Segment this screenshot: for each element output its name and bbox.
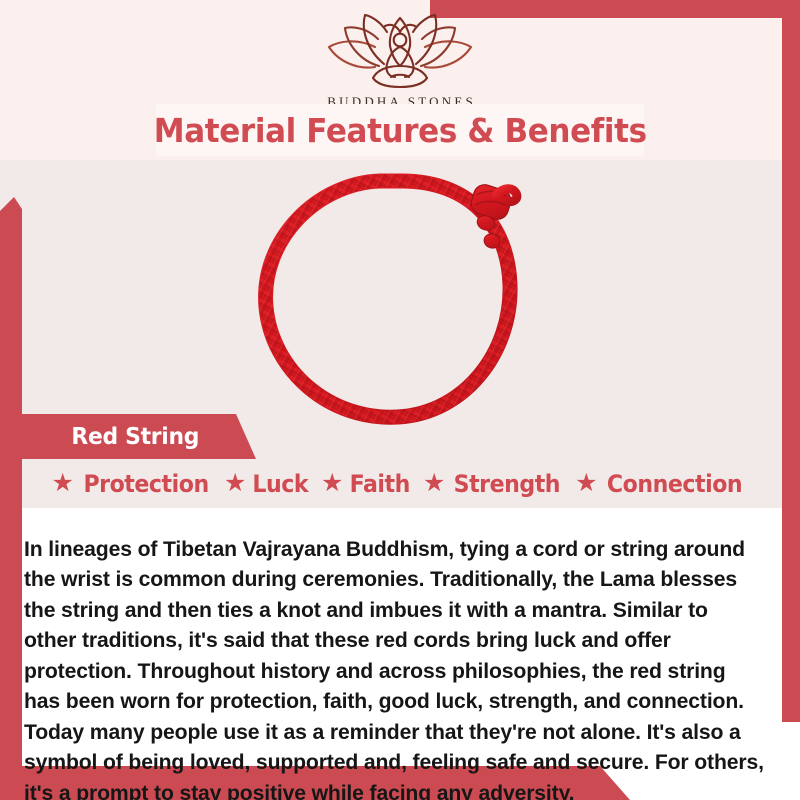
description-text: In lineages of Tibetan Vajrayana Buddhis… bbox=[24, 534, 765, 800]
benefit-item-protection: ★ Protection bbox=[48, 470, 217, 498]
star-icon: ★ bbox=[575, 471, 597, 496]
product-name-ribbon: Red String bbox=[22, 414, 256, 459]
star-icon: ★ bbox=[321, 471, 343, 496]
product-name: Red String bbox=[22, 424, 199, 450]
star-icon: ★ bbox=[51, 471, 73, 496]
benefit-item-connection: ★ Connection bbox=[572, 470, 751, 498]
benefit-label: Faith bbox=[350, 470, 410, 498]
title-banner: Material Features & Benefits bbox=[156, 104, 644, 156]
star-icon: ★ bbox=[224, 471, 246, 496]
decorative-band-left bbox=[0, 197, 22, 800]
benefit-item-luck: ★ Luck bbox=[221, 470, 314, 498]
product-infographic: BUDDHA STONES Material Features & Benefi… bbox=[0, 0, 800, 800]
benefit-item-strength: ★ Strength bbox=[420, 470, 568, 498]
benefit-label: Protection bbox=[83, 470, 208, 498]
benefit-label: Luck bbox=[253, 470, 309, 498]
lotus-meditation-icon bbox=[305, 14, 495, 92]
product-image bbox=[0, 160, 800, 450]
benefits-list: ★ Protection ★ Luck ★ Faith ★ Strength ★… bbox=[22, 464, 778, 504]
benefit-item-faith: ★ Faith bbox=[318, 470, 416, 498]
page-title: Material Features & Benefits bbox=[154, 111, 647, 150]
star-icon: ★ bbox=[423, 471, 445, 496]
brand-logo: BUDDHA STONES bbox=[0, 14, 800, 110]
benefit-label: Connection bbox=[607, 470, 742, 498]
red-string-bracelet-illustration bbox=[240, 165, 560, 445]
benefit-label: Strength bbox=[454, 470, 560, 498]
